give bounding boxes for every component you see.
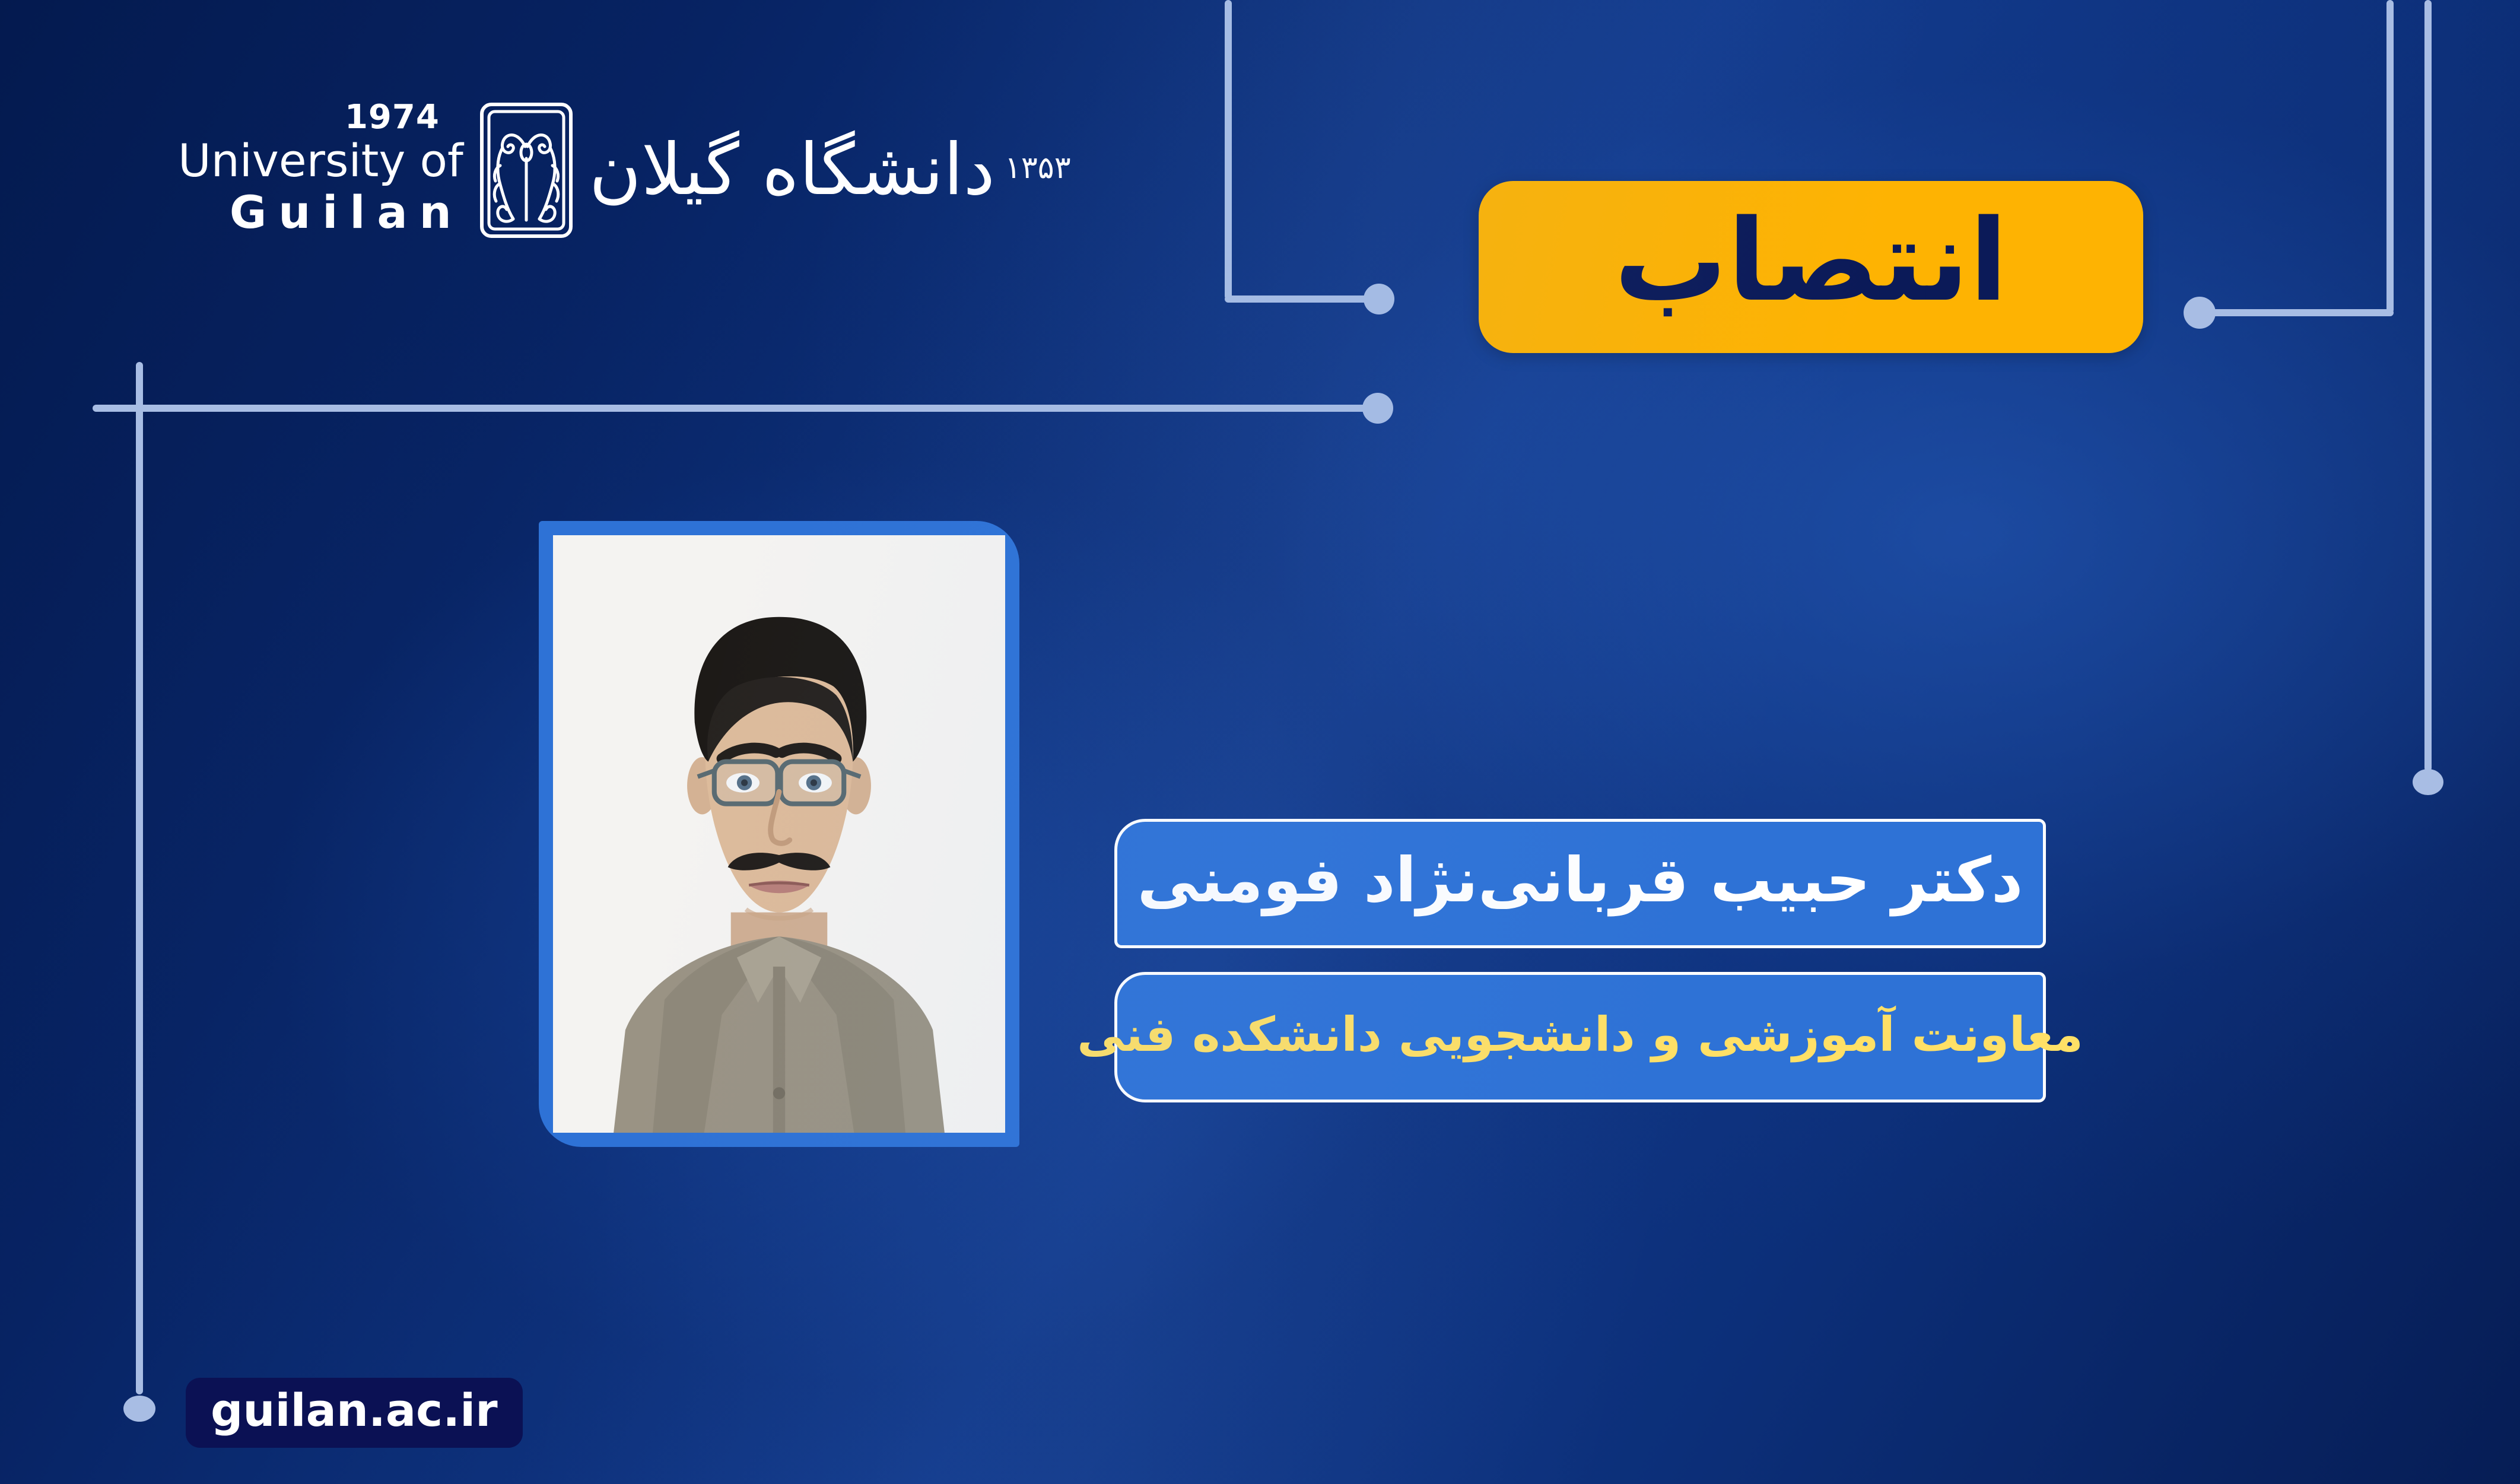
logo-year-fa: ۱۳۵۳ — [1005, 150, 1071, 186]
appointment-badge-label: انتصاب — [1614, 205, 2008, 317]
vertical-line-right-inner — [2386, 0, 2394, 313]
logo-guilan-label: Guilan — [230, 184, 463, 240]
logo-university-label: University of — [178, 138, 463, 184]
poster-canvas: 1974 University of Guilan — [0, 0, 2520, 1484]
appointment-badge: انتصاب — [1479, 181, 2143, 353]
dot-left-of-badge — [1364, 284, 1394, 314]
logo-year-en: 1974 — [345, 101, 440, 134]
dot-bottom-left — [123, 1396, 155, 1422]
logo-persian-text: ۱۳۵۳ دانشگاه گیلان — [589, 135, 1071, 206]
website-badge[interactable]: guilan.ac.ir — [186, 1378, 523, 1448]
website-url: guilan.ac.ir — [211, 1388, 498, 1433]
guilan-university-emblem-icon — [479, 101, 574, 239]
horizontal-line-logo-underline — [93, 405, 1380, 412]
university-logo: 1974 University of Guilan — [178, 101, 1071, 240]
horizontal-line-right — [2208, 309, 2394, 316]
logo-english-text: 1974 University of Guilan — [178, 101, 463, 240]
vertical-line-left — [136, 362, 143, 1394]
portrait-frame — [539, 521, 1019, 1147]
portrait-photo — [553, 535, 1005, 1133]
person-role-banner: معاونت آموزشی و دانشجویی دانشکده فنی — [1114, 972, 2046, 1102]
logo-name-fa: دانشگاه گیلان — [589, 135, 995, 206]
person-name: دکتر حبیب قربانی‌نژاد فومنی — [1137, 849, 2023, 911]
dot-logo-underline — [1362, 393, 1393, 424]
person-name-banner: دکتر حبیب قربانی‌نژاد فومنی — [1114, 819, 2046, 948]
vertical-line-center — [1225, 0, 1232, 300]
person-role: معاونت آموزشی و دانشجویی دانشکده فنی — [1077, 1011, 2083, 1059]
horizontal-line-center-stub — [1225, 295, 1379, 303]
dot-right-outer — [2413, 769, 2443, 795]
vertical-line-right-outer — [2424, 0, 2432, 771]
